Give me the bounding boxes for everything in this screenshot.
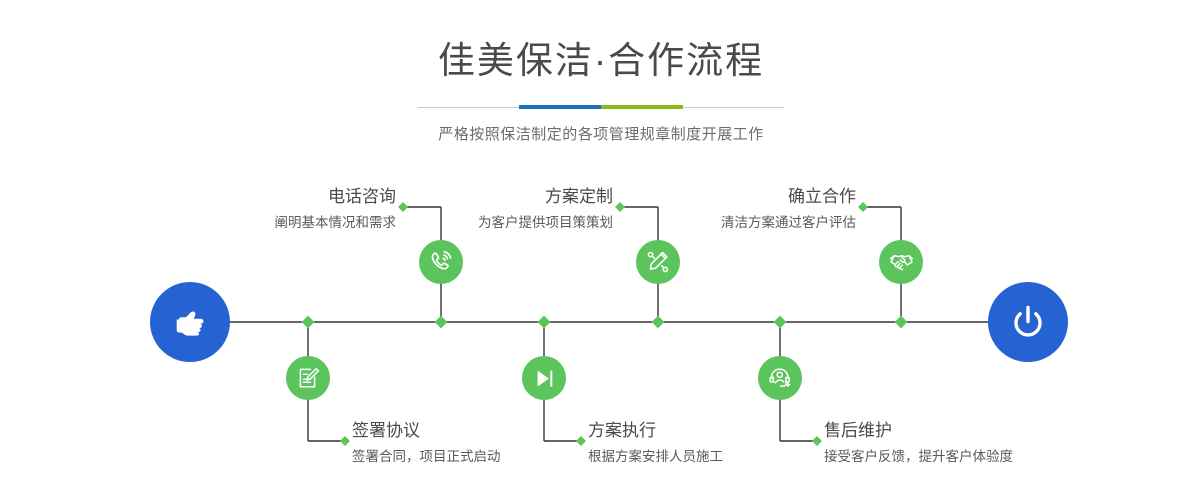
step-node-2[interactable] [286,356,330,400]
step-description-1: 阐明基本情况和需求 [275,216,397,231]
diamond-step-3 [652,316,665,329]
step-title-1: 电话咨询 [275,188,397,207]
step-title-4: 方案执行 [588,422,723,441]
step-title-5: 确立合作 [721,188,856,207]
play-execute-icon [532,366,557,391]
label-diamond-step-6 [812,436,822,446]
step-label-4: 方案执行 根据方案安排人员施工 [588,422,723,465]
power-icon [1005,299,1051,345]
pencil-design-icon [645,249,671,275]
step-description-2: 签署合同，项目正式启动 [352,450,501,465]
label-diamond-step-4 [576,436,586,446]
step-description-4: 根据方案安排人员施工 [588,450,723,465]
step-node-3[interactable] [636,240,680,284]
step-node-6[interactable] [758,356,802,400]
step-label-1: 电话咨询 阐明基本情况和需求 [275,188,397,231]
step-node-4[interactable] [522,356,566,400]
label-diamond-step-2 [340,436,350,446]
step-title-2: 签署协议 [352,422,501,441]
step-label-2: 签署协议 签署合同，项目正式启动 [352,422,501,465]
step-node-5[interactable] [879,240,923,284]
diamond-step-2 [302,316,315,329]
label-diamond-step-3 [615,202,625,212]
step-label-5: 确立合作 清洁方案通过客户评估 [721,188,856,231]
step-label-6: 售后维护 接受客户反馈，提升客户体验度 [824,422,1013,465]
step-node-1[interactable] [419,240,463,284]
step-label-3: 方案定制 为客户提供项目策策划 [478,188,613,231]
pointing-hand-icon [167,299,213,345]
label-diamond-group [340,202,868,446]
label-diamond-step-5 [858,202,868,212]
step-description-6: 接受客户反馈，提升客户体验度 [824,450,1013,465]
phone-call-icon [428,249,454,275]
step-description-3: 为客户提供项目策策划 [478,216,613,231]
step-title-6: 售后维护 [824,422,1013,441]
diamond-step-4 [538,316,551,329]
document-pen-icon [296,366,321,391]
diamond-step-6 [774,316,787,329]
label-diamond-step-1 [398,202,408,212]
flow-start-node[interactable] [150,282,230,362]
handshake-icon [888,249,915,276]
diamond-step-5 [895,316,908,329]
step-description-5: 清洁方案通过客户评估 [721,216,856,231]
flow-end-node[interactable] [988,282,1068,362]
step-title-3: 方案定制 [478,188,613,207]
flow-chart-page: 佳美保洁·合作流程 严格按照保洁制定的各项管理规章制度开展工作 [0,0,1202,502]
headset-support-icon [767,365,793,391]
diamond-step-1 [435,316,448,329]
